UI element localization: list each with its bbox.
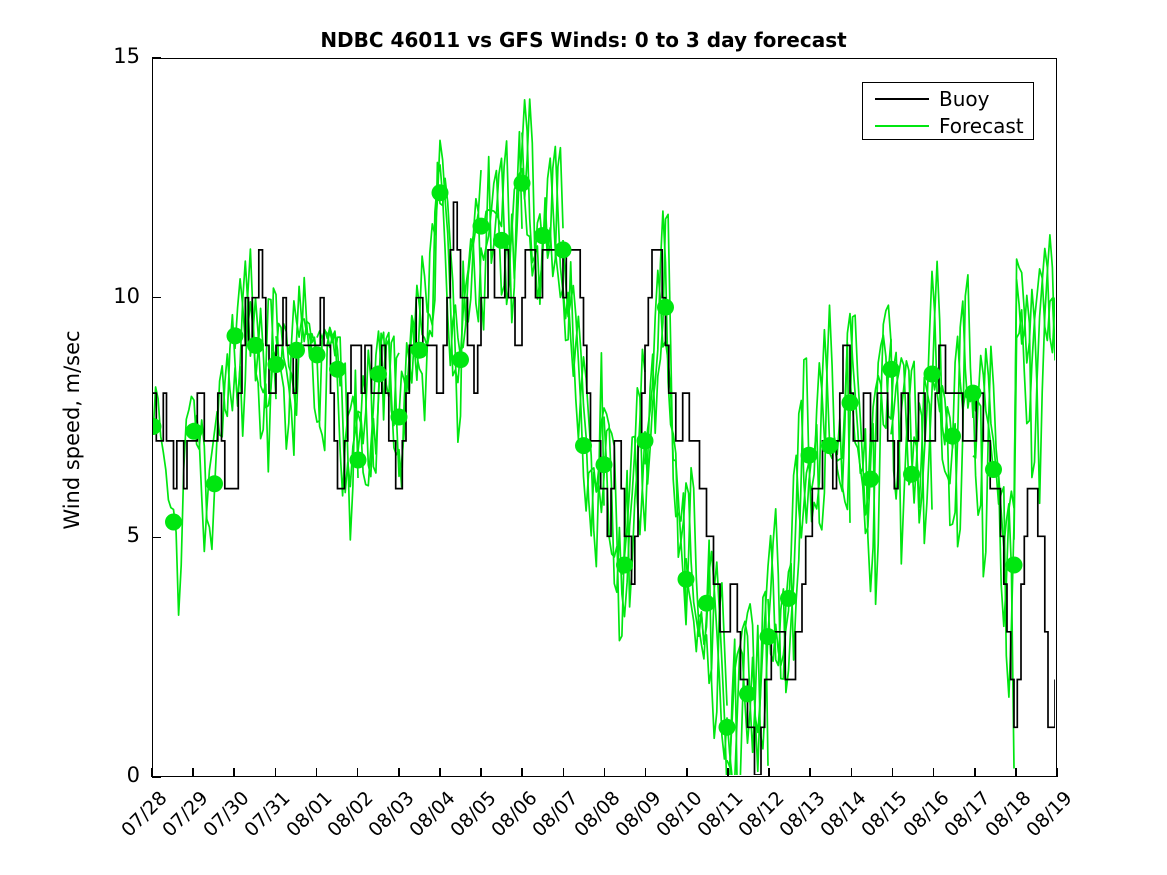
- forecast-marker: [637, 432, 654, 449]
- x-tick-mark: [1015, 768, 1017, 777]
- forecast-marker: [329, 361, 346, 378]
- forecast-line: [891, 271, 1014, 768]
- legend-swatch-forecast: [875, 125, 929, 127]
- forecast-marker: [165, 514, 182, 531]
- legend-label-buoy: Buoy: [939, 89, 989, 109]
- forecast-marker: [514, 175, 531, 192]
- x-tick-mark: [151, 768, 153, 777]
- x-tick-mark: [233, 768, 235, 777]
- forecast-marker: [965, 385, 982, 402]
- x-tick-mark: [604, 768, 606, 777]
- forecast-marker: [227, 327, 244, 344]
- plot-area: [152, 58, 1057, 777]
- forecast-marker: [288, 342, 305, 359]
- series-canvas: [153, 59, 1055, 775]
- forecast-marker: [821, 437, 838, 454]
- forecast-marker: [698, 595, 715, 612]
- chart-figure: NDBC 46011 vs GFS Winds: 0 to 3 day fore…: [0, 0, 1167, 875]
- forecast-marker: [883, 361, 900, 378]
- x-tick-mark: [851, 768, 853, 777]
- forecast-marker: [391, 409, 408, 426]
- legend-item-buoy: Buoy: [863, 85, 1033, 112]
- x-tick-mark: [809, 768, 811, 777]
- y-tick-label: 15: [70, 44, 140, 68]
- forecast-marker: [473, 218, 490, 235]
- x-tick-mark: [933, 768, 935, 777]
- forecast-marker: [555, 241, 572, 258]
- forecast-marker: [534, 227, 551, 244]
- x-tick-mark: [686, 768, 688, 777]
- x-tick-mark: [316, 768, 318, 777]
- forecast-marker: [309, 346, 326, 363]
- forecast-marker: [862, 471, 879, 488]
- x-tick-mark: [974, 768, 976, 777]
- forecast-marker: [944, 428, 961, 445]
- forecast-marker: [616, 557, 633, 574]
- forecast-marker: [780, 590, 797, 607]
- legend: Buoy Forecast: [862, 82, 1034, 140]
- forecast-marker: [247, 337, 264, 354]
- forecast-marker: [206, 475, 223, 492]
- y-tick-mark: [152, 297, 161, 299]
- legend-item-forecast: Forecast: [863, 112, 1033, 139]
- x-tick-mark: [192, 768, 194, 777]
- forecast-marker: [452, 351, 469, 368]
- x-tick-mark: [1056, 768, 1058, 777]
- forecast-marker: [350, 452, 367, 469]
- forecast-marker: [657, 299, 674, 316]
- x-tick-mark: [398, 768, 400, 777]
- y-tick-label: 0: [70, 763, 140, 787]
- x-tick-mark: [727, 768, 729, 777]
- forecast-marker: [596, 456, 613, 473]
- forecast-marker: [801, 447, 818, 464]
- x-tick-mark: [480, 768, 482, 777]
- x-tick-mark: [892, 768, 894, 777]
- forecast-marker: [719, 719, 736, 736]
- forecast-marker: [924, 366, 941, 383]
- forecast-marker: [760, 628, 777, 645]
- forecast-markers: [153, 175, 1023, 736]
- forecast-marker: [1006, 557, 1023, 574]
- y-tick-mark: [152, 537, 161, 539]
- y-tick-mark: [152, 776, 161, 778]
- forecast-marker: [903, 466, 920, 483]
- forecast-marker: [493, 232, 510, 249]
- x-tick-mark: [275, 768, 277, 777]
- x-tick-mark: [521, 768, 523, 777]
- x-tick-mark: [439, 768, 441, 777]
- forecast-marker: [186, 423, 203, 440]
- forecast-series: [153, 99, 1055, 775]
- x-tick-mark: [768, 768, 770, 777]
- chart-title: NDBC 46011 vs GFS Winds: 0 to 3 day fore…: [0, 28, 1167, 52]
- forecast-marker: [268, 356, 285, 373]
- x-tick-mark: [645, 768, 647, 777]
- forecast-marker: [370, 366, 387, 383]
- y-tick-label: 10: [70, 284, 140, 308]
- x-tick-mark: [563, 768, 565, 777]
- y-tick-label: 5: [70, 523, 140, 547]
- legend-swatch-buoy: [875, 98, 929, 100]
- forecast-marker: [575, 437, 592, 454]
- forecast-marker: [678, 571, 695, 588]
- forecast-marker: [411, 342, 428, 359]
- legend-label-forecast: Forecast: [939, 116, 1024, 136]
- y-tick-mark: [152, 57, 161, 59]
- x-tick-mark: [357, 768, 359, 777]
- forecast-marker: [739, 685, 756, 702]
- forecast-marker: [842, 394, 859, 411]
- forecast-marker: [985, 461, 1002, 478]
- forecast-marker: [432, 184, 449, 201]
